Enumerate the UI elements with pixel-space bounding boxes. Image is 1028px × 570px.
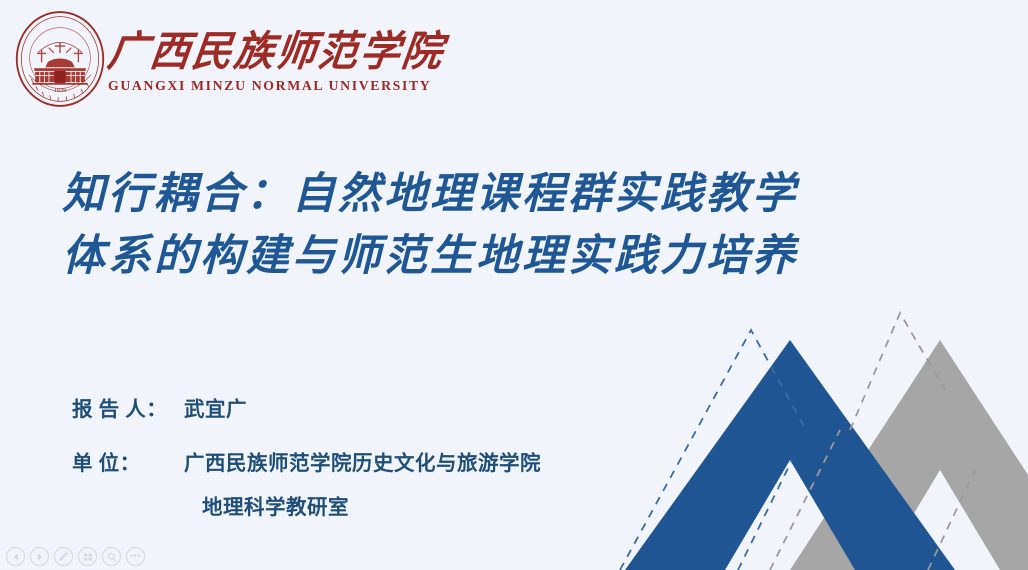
- blue-dashed-outline-left: [620, 330, 806, 570]
- unit-value: 广西民族师范学院历史文化与旅游学院 地理科学教研室: [184, 446, 541, 520]
- unit-name-line-1: 广西民族师范学院历史文化与旅游学院: [184, 446, 541, 476]
- university-seal-icon: 1939: [14, 10, 106, 108]
- presenter-row: 报 告 人： 武宜广: [72, 392, 541, 422]
- presenter-label: 报 告 人：: [72, 392, 184, 422]
- university-name-en: GUANGXI MINZU NORMAL UNIVERSITY: [108, 78, 431, 94]
- next-slide-button[interactable]: [30, 547, 49, 566]
- logo-wordmark: 广西民族师范学院 GUANGXI MINZU NORMAL UNIVERSITY: [108, 24, 444, 94]
- presenter-name: 武宜广: [184, 392, 247, 422]
- title-slide: 1939 广西民族师范学院 GUANGXI MINZU NORMAL UNIVE…: [0, 0, 1028, 570]
- slide-overview-button[interactable]: [78, 547, 97, 566]
- blue-dashed-outline-inner: [738, 460, 792, 570]
- pen-icon: [58, 551, 69, 562]
- blue-mountain-shape: [625, 340, 955, 570]
- gray-mountain-shape: [790, 340, 1028, 570]
- presentation-toolbar[interactable]: •••: [6, 547, 145, 566]
- gray-dashed-outline-right: [770, 430, 840, 570]
- unit-row: 单 位： 广西民族师范学院历史文化与旅游学院 地理科学教研室: [72, 446, 541, 520]
- previous-slide-button[interactable]: [6, 547, 25, 566]
- unit-name-line-2: 地理科学教研室: [202, 490, 541, 520]
- triangle-right-icon: [36, 553, 44, 561]
- slide-title-line-1: 知行耦合：自然地理课程群实践教学: [62, 163, 972, 225]
- gray-dashed-outline-upper: [850, 313, 945, 430]
- zoom-magnifier-button[interactable]: [102, 547, 121, 566]
- grid-icon: [83, 552, 93, 562]
- unit-label: 单 位：: [72, 446, 184, 476]
- university-logo: 1939 广西民族师范学院 GUANGXI MINZU NORMAL UNIVE…: [14, 10, 444, 108]
- slide-title: 知行耦合：自然地理课程群实践教学 体系的构建与师范生地理实践力培养: [62, 163, 972, 287]
- gray-dashed-outline-far-right: [928, 470, 975, 570]
- presenter-info: 报 告 人： 武宜广 单 位： 广西民族师范学院历史文化与旅游学院 地理科学教研…: [72, 392, 541, 544]
- slide-title-line-2: 体系的构建与师范生地理实践力培养: [62, 225, 972, 287]
- triangle-left-icon: [12, 553, 20, 561]
- ellipsis-icon: •••: [130, 552, 141, 561]
- university-name-cn: 广西民族师范学院: [105, 29, 447, 76]
- more-options-button[interactable]: •••: [126, 547, 145, 566]
- magnifier-icon: [107, 552, 117, 562]
- pen-annotate-button[interactable]: [54, 547, 73, 566]
